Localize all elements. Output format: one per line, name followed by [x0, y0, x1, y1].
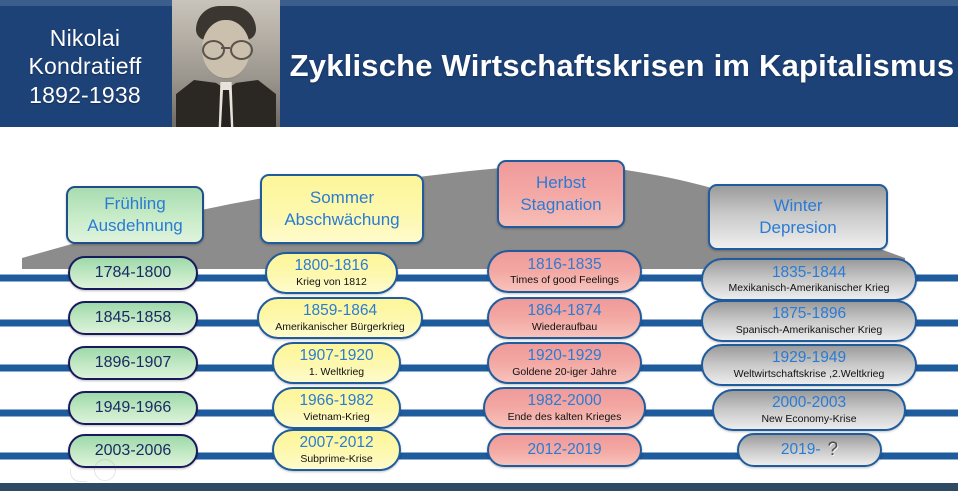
watermark-swoosh: [70, 469, 87, 482]
season-summer-name: Sommer: [310, 187, 374, 209]
event-label: Spanisch-Amerikanischer Krieg: [736, 324, 882, 336]
season-header-summer[interactable]: Sommer Abschwächung: [260, 174, 424, 244]
event-label: Times of good Feelings: [510, 274, 619, 286]
years-label: 1929-1949: [772, 350, 846, 367]
cycle-1-spring-pill[interactable]: 1784-1800: [68, 256, 198, 290]
cycle-4-autumn-pill[interactable]: 1982-2000 Ende des kalten Krieges: [483, 387, 646, 429]
cycle-5-winter-pill[interactable]: 2019- ?: [737, 433, 882, 467]
portrait-glasses-right: [230, 40, 253, 60]
event-label: Subprime-Krise: [300, 453, 372, 465]
cycle-2-spring-pill[interactable]: 1845-1858: [68, 301, 198, 335]
years-label: 1920-1929: [527, 348, 601, 365]
event-label: Weltwirtschaftskrise ,2.Weltkrieg: [734, 368, 885, 380]
years-label: 1835-1844: [772, 265, 846, 282]
event-label: Ende des kalten Krieges: [508, 411, 622, 423]
cycle-5-autumn-pill[interactable]: 2012-2019: [487, 433, 642, 467]
event-label: Goldene 20-iger Jahre: [512, 366, 616, 378]
cycle-1-winter-pill[interactable]: 1835-1844 Mexikanisch-Amerikanischer Kri…: [701, 258, 917, 301]
cycle-2-summer-pill[interactable]: 1859-1864 Amerikanischer Bürgerkrieg: [257, 297, 423, 339]
season-winter-name: Winter: [773, 195, 822, 217]
years-label: 1816-1835: [527, 257, 601, 274]
page-title: Zyklische Wirtschaftskrisen im Kapitalis…: [286, 6, 958, 127]
years-label: 1859-1864: [303, 303, 377, 320]
years-label: 2007-2012: [299, 435, 373, 452]
event-label: Krieg von 1812: [296, 276, 367, 288]
years-label: 1907-1920: [299, 348, 373, 365]
cycle-3-winter-pill[interactable]: 1929-1949 Weltwirtschaftskrise ,2.Weltkr…: [701, 344, 917, 386]
cycle-3-autumn-pill[interactable]: 1920-1929 Goldene 20-iger Jahre: [487, 342, 642, 384]
years-label: 2012-2019: [527, 442, 601, 459]
season-autumn-phase: Stagnation: [520, 194, 601, 216]
cycle-2-winter-pill[interactable]: 1875-1896 Spanisch-Amerikanischer Krieg: [701, 300, 917, 342]
season-header-winter[interactable]: Winter Depresion: [708, 184, 888, 250]
years-label: 2019-: [781, 442, 821, 459]
cycle-4-winter-pill[interactable]: 2000-2003 New Economy-Krise: [712, 389, 906, 431]
portrait-glasses-left: [202, 40, 225, 60]
years-label: 2000-2003: [772, 395, 846, 412]
years-label: 1896-1907: [95, 354, 172, 371]
years-label: 1982-2000: [527, 393, 601, 410]
years-label: 1949-1966: [95, 399, 172, 416]
years-label: 1784-1800: [95, 264, 172, 281]
watermark-circle: [94, 459, 116, 481]
season-autumn-name: Herbst: [536, 172, 586, 194]
event-label: New Economy-Krise: [761, 413, 856, 425]
season-summer-phase: Abschwächung: [284, 209, 399, 231]
season-header-spring[interactable]: Frühling Ausdehnung: [66, 186, 204, 244]
event-label: Mexikanisch-Amerikanischer Krieg: [728, 282, 889, 294]
cycle-3-spring-pill[interactable]: 1896-1907: [68, 346, 198, 380]
cycle-1-autumn-pill[interactable]: 1816-1835 Times of good Feelings: [487, 250, 642, 293]
person-last-name: Kondratieff: [28, 52, 141, 80]
season-header-autumn[interactable]: Herbst Stagnation: [497, 160, 625, 228]
event-label: Wiederaufbau: [532, 321, 597, 333]
person-first-name: Nikolai: [50, 24, 120, 52]
cycle-1-summer-pill[interactable]: 1800-1816 Krieg von 1812: [265, 252, 398, 294]
portrait-glasses-bridge: [221, 47, 230, 49]
question-mark-icon: ?: [828, 439, 839, 461]
person-label-block: Nikolai Kondratieff 1892-1938: [0, 6, 170, 127]
slide-canvas: Nikolai Kondratieff 1892-1938 Zyklische …: [0, 0, 958, 491]
cycle-2-autumn-pill[interactable]: 1864-1874 Wiederaufbau: [487, 297, 642, 339]
season-spring-name: Frühling: [104, 193, 165, 215]
season-spring-phase: Ausdehnung: [87, 215, 182, 237]
years-label: 1864-1874: [527, 303, 601, 320]
cycle-5-summer-pill[interactable]: 2007-2012 Subprime-Krise: [272, 429, 401, 471]
years-label: 1845-1858: [95, 309, 172, 326]
person-life-years: 1892-1938: [29, 81, 141, 109]
event-label: Amerikanischer Bürgerkrieg: [275, 321, 405, 333]
watermark: [66, 455, 136, 485]
event-label: Vietnam-Krieg: [303, 411, 369, 423]
portrait-photo: [172, 0, 280, 127]
cycle-4-summer-pill[interactable]: 1966-1982 Vietnam-Krieg: [272, 387, 401, 429]
bottom-accent-bar: [0, 483, 958, 491]
cycle-3-summer-pill[interactable]: 1907-1920 1. Weltkrieg: [272, 342, 401, 384]
years-label: 1875-1896: [772, 306, 846, 323]
event-label: 1. Weltkrieg: [309, 366, 364, 378]
season-winter-phase: Depresion: [759, 217, 837, 239]
years-label: 1966-1982: [299, 393, 373, 410]
years-label: 1800-1816: [294, 258, 368, 275]
cycle-4-spring-pill[interactable]: 1949-1966: [68, 391, 198, 425]
